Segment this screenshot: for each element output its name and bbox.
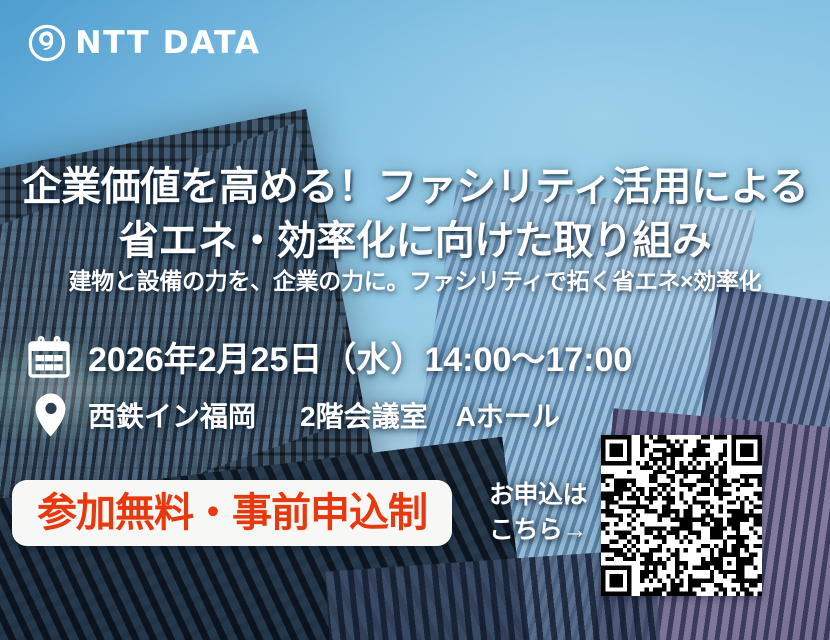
- headline-line-1: 企業価値を高める！ファシリティ活用による: [0, 160, 830, 214]
- event-date-row: 2026年2月25日（水）14:00〜17:00: [26, 332, 632, 381]
- event-venue-hall: 2階会議室 Aホール: [300, 395, 560, 435]
- location-pin-icon: [28, 392, 70, 438]
- event-venue-row: 西鉄イン福岡 2階会議室 Aホール: [28, 392, 560, 438]
- page-subtitle: 建物と設備の力を、企業の力に。ファシリティで拓く省エネ×効率化: [0, 262, 830, 296]
- apply-here-label: お申込は こちら→: [489, 478, 587, 547]
- qr-code[interactable]: [601, 435, 762, 596]
- event-banner: NTT DaTa 企業価値を高める！ファシリティ活用による 省エネ・効率化に向け…: [0, 0, 830, 640]
- brand-wordmark: NTT DaTa: [75, 28, 260, 59]
- ntt-data-circle-mark-icon: [28, 24, 66, 62]
- page-title: 企業価値を高める！ファシリティ活用による 省エネ・効率化に向けた取り組み: [0, 160, 830, 269]
- status-badge: 参加無料・事前申込制: [12, 480, 452, 546]
- event-venue-text: 西鉄イン福岡: [88, 395, 256, 435]
- calendar-icon: [26, 334, 72, 380]
- apply-label-line-2: こちら→: [489, 513, 587, 548]
- brand-logo: NTT DaTa: [28, 24, 259, 62]
- apply-label-line-1: お申込は: [489, 478, 587, 513]
- badge-free-label: 参加無料・事前申込制: [37, 493, 427, 533]
- event-date-text: 2026年2月25日（水）14:00〜17:00: [88, 332, 632, 381]
- headline-line-2: 省エネ・効率化に向けた取り組み: [0, 214, 830, 268]
